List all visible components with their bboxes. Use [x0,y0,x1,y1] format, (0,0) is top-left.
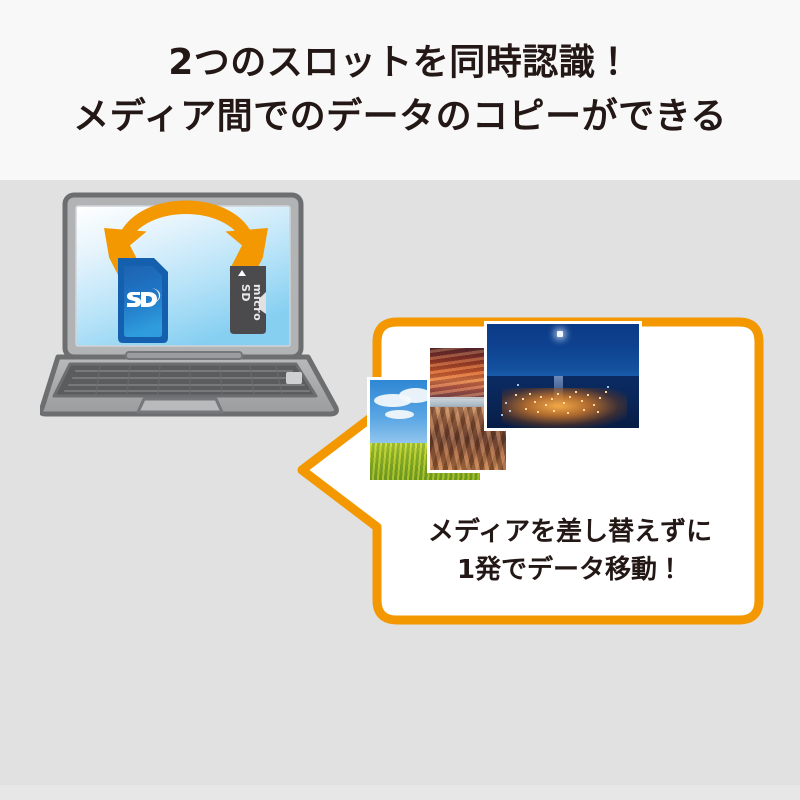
laptop-trackpad [138,399,222,412]
header-banner: 2つのスロットを同時認識！ メディア間でのデータのコピーができる [0,0,800,180]
sd-card-icon [118,258,168,343]
night-town-photo [484,321,642,431]
microsd-card-icon: micro SD [230,266,266,334]
svg-text:SD: SD [239,284,252,302]
night-photo-town-lights [487,324,639,428]
callout-text-line-1: メディアを差し替えずに [385,513,755,551]
callout-text: メディアを差し替えずに 1発でデータ移動！ [385,513,755,589]
callout-text-line-2: 1発でデータ移動！ [385,551,755,589]
panel-bottom-strip [0,785,800,800]
headline-line-2: メディア間でのデータのコピーができる [73,90,727,144]
headline-line-1: 2つのスロットを同時認識！ [168,36,632,90]
laptop-base [41,352,337,414]
callout-bubble: メディアを差し替えずに 1発でデータ移動！ [295,295,770,635]
illustration-page: 2つのスロットを同時認識！ メディア間でのデータのコピーができる [0,0,800,800]
photo-stack [360,317,660,487]
